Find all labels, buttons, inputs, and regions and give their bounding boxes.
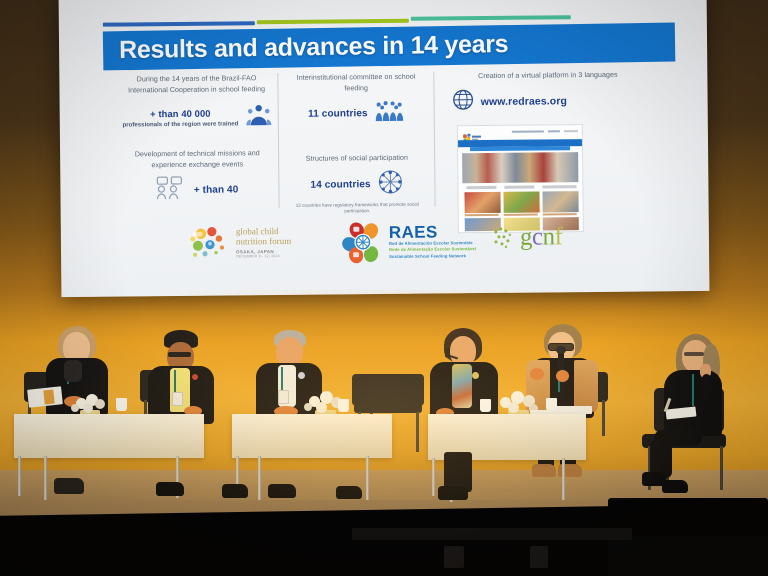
gcn-forum-line2: nutrition forum	[236, 236, 291, 247]
panelist-1-scarf	[64, 360, 82, 382]
col3-heading: Creation of a virtual platform in 3 lang…	[446, 69, 649, 82]
col2-note: 13 countries have regulatory frameworks …	[286, 201, 429, 215]
gcnf-wordmark: gcnf	[520, 226, 563, 249]
slide-title-bar: Results and advances in 14 years	[103, 22, 676, 70]
col1-heading: During the 14 years of the Brazil-FAO In…	[121, 73, 271, 96]
slide-columns: During the 14 years of the Brazil-FAO In…	[115, 69, 656, 209]
platform-url: www.redraes.org	[481, 95, 567, 108]
accent-bar-teal	[411, 15, 571, 21]
gcnf-dot-cluster-icon	[493, 225, 519, 251]
water-cup-center[interactable]	[338, 399, 349, 412]
slide-column-cooperation: During the 14 years of the Brazil-FAO In…	[115, 73, 279, 210]
panelist-5-shoe-1	[532, 464, 556, 477]
stage-foreground-edge	[0, 506, 620, 576]
slide-column-platform: Creation of a virtual platform in 3 lang…	[434, 69, 656, 206]
people-crowd-icon	[375, 100, 405, 127]
people-group-icon	[246, 103, 272, 132]
conference-panel-photo: Results and advances in 14 years During …	[0, 0, 768, 576]
gcnf-forum-mark-icon	[189, 223, 231, 261]
water-cup-left[interactable]	[116, 398, 127, 411]
foreground-knob-1	[444, 546, 464, 568]
exchange-people-icon	[157, 175, 187, 204]
accent-bar-lime	[257, 19, 409, 24]
panelist-5-hand-gesture	[530, 368, 544, 380]
site-caption-3	[542, 185, 576, 188]
site-thumb-3	[543, 191, 579, 212]
col1-stat: + than 40 000	[122, 107, 239, 119]
site-logo	[462, 129, 482, 138]
microphone-head	[556, 346, 566, 354]
slide-logo-row: global child nutrition forum OSAKA, JAPA…	[181, 216, 611, 272]
panelist-5-shawl-right	[574, 360, 598, 412]
panel-table-left	[14, 414, 204, 458]
site-navlink-2	[548, 130, 560, 132]
panelist-3-badge	[278, 390, 289, 404]
network-circle-icon	[377, 169, 403, 200]
site-navlink-1	[512, 130, 544, 132]
panelist-6-lanyard	[692, 374, 694, 406]
global-child-nutrition-forum-logo: global child nutrition forum OSAKA, JAPA…	[189, 223, 292, 262]
panelist-1-shoe	[54, 478, 84, 494]
panelist-6-shoe-2	[662, 480, 688, 493]
panelist-2-badge	[172, 392, 183, 406]
site-search-box	[564, 130, 578, 132]
col1-heading2: Development of technical missions and ex…	[122, 148, 272, 171]
panelist-4-shoe	[438, 486, 468, 500]
panelist-2-shoe-2	[222, 484, 248, 498]
accent-bar-blue	[103, 21, 255, 26]
col2-stat2: 14 countries	[310, 179, 370, 191]
site-thumb-2	[504, 192, 540, 213]
col1-stat2: + than 40	[194, 184, 239, 195]
panelist-2-glasses-icon	[168, 352, 191, 357]
slide-column-committee: Interinstitutional committee on school f…	[278, 72, 436, 208]
raes-logo: RAES Red de Alimentación Escolar Sosteni…	[341, 219, 476, 264]
foreground-panel-strip	[352, 528, 632, 540]
orange-folder	[43, 390, 54, 405]
globe-icon	[453, 89, 474, 115]
panelist-3-shoe-1	[268, 484, 296, 498]
site-nav-bar	[470, 146, 570, 151]
panelist-4-brooch	[472, 372, 479, 379]
site-thumbcap-3	[543, 213, 577, 215]
site-hero-photo	[462, 152, 578, 183]
site-thumbcap-1	[465, 214, 499, 216]
panelist-6-forearm	[702, 374, 711, 400]
gcn-forum-dates: DECEMBER 9 - 12, 2024	[236, 254, 291, 259]
projection-screen: Results and advances in 14 years During …	[59, 0, 710, 297]
raes-acronym: RAES	[389, 223, 476, 241]
foreground-equipment-shadow	[608, 536, 768, 576]
panelist-2-shoe-1	[156, 482, 184, 496]
panelist-5-hand-mic	[556, 370, 569, 382]
col2-heading: Interinstitutional committee on school f…	[285, 72, 428, 95]
gcn-forum-line1: global child	[236, 226, 291, 237]
panel-table-center	[232, 414, 392, 458]
col1-stat-sub: professionals of the region were trained	[122, 120, 239, 130]
panelist-6-glasses-icon	[684, 352, 704, 356]
panelist-3-lapel-pin	[298, 372, 305, 379]
site-caption-2	[504, 186, 534, 189]
col2-heading2: Structures of social participation	[285, 153, 428, 165]
site-thumb-1	[465, 192, 501, 213]
raes-flower-icon	[341, 220, 385, 264]
raes-sub-en: Sustainable School Feeding Network	[389, 253, 476, 260]
gcnf-logo: gcnf	[493, 224, 563, 251]
foreground-knob-2	[530, 546, 548, 568]
site-thumbcap-2	[504, 214, 538, 216]
panelist-4-scarf	[452, 364, 472, 408]
slide-title: Results and advances in 14 years	[119, 30, 509, 65]
col2-stat: 11 countries	[308, 108, 368, 120]
panelist-2-lapel-pin	[192, 374, 198, 380]
panelist-6	[648, 334, 738, 494]
panelist-3-shoe-2	[336, 486, 362, 499]
site-caption-1	[466, 186, 496, 189]
water-cup-right[interactable]	[480, 399, 491, 412]
